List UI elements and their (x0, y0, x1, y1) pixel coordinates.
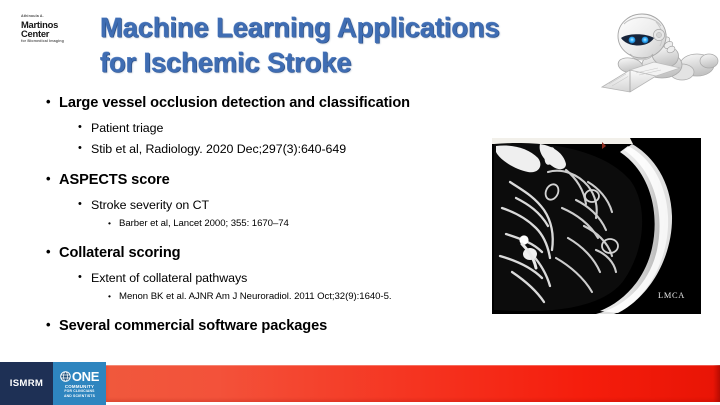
slide-footer: ISMRM ONE COMMUNITY FOR CLINICIANS AND S… (0, 362, 720, 405)
bullet-marker-icon: • (108, 218, 111, 229)
bullet-marker-icon: • (78, 270, 82, 285)
bullet-marker-icon: • (78, 120, 82, 135)
bullet-marker-icon: • (46, 317, 50, 334)
logo-line-biomedical-imaging: for Biomedical Imaging (21, 40, 67, 44)
bullet-level1-aspects-score: • ASPECTS score (46, 171, 506, 190)
bullet-text: Stroke severity on CT (91, 197, 209, 213)
logo-line-athinoula: Athinoula A. (21, 15, 67, 19)
bullet-marker-icon: • (46, 244, 50, 261)
bullet-marker-icon: • (78, 197, 82, 212)
bullet-level1-commercial-packages: • Several commercial software packages (46, 317, 506, 336)
bullet-marker-icon: • (46, 94, 50, 111)
bullet-text: Collateral scoring (59, 244, 180, 263)
presentation-slide: Athinoula A. Martinos Center for Biomedi… (0, 0, 720, 405)
bullet-marker-icon: • (46, 171, 50, 188)
bullet-level1-collateral-scoring: • Collateral scoring (46, 244, 506, 263)
logo-line-center: Center (21, 29, 67, 38)
globe-icon (60, 371, 71, 382)
bullet-marker-icon: • (108, 291, 111, 302)
slide-title-line-2: for Ischemic Stroke (100, 45, 620, 80)
bullet-text: Barber et al, Lancet 2000; 355: 1670–74 (119, 218, 289, 231)
bullet-level2-stib-reference: • Stib et al, Radiology. 2020 Dec;297(3)… (46, 141, 506, 157)
bullet-level3-barber-reference: • Barber et al, Lancet 2000; 355: 1670–7… (46, 218, 506, 231)
bullet-text: Extent of collateral pathways (91, 270, 247, 286)
bullet-marker-icon: • (78, 141, 82, 156)
one-logo-row: ONE (60, 370, 99, 383)
robot-reading-book-icon (596, 2, 720, 94)
bullet-text: Several commercial software packages (59, 317, 327, 336)
bullet-text: Stib et al, Radiology. 2020 Dec;297(3):6… (91, 141, 346, 157)
ismrm-label: ISMRM (10, 378, 43, 389)
ct-angiography-image: LMCA (492, 138, 701, 314)
bullet-text: Menon BK et al. AJNR Am J Neuroradiol. 2… (119, 291, 391, 304)
slide-title-line-1: Machine Learning Applications (100, 10, 620, 45)
ismrm-logo-block: ISMRM (0, 362, 53, 405)
one-sublabel-scientists: AND SCIENTISTS (64, 394, 95, 398)
footer-red-banner (106, 365, 720, 402)
bullet-level2-stroke-severity: • Stroke severity on CT (46, 197, 506, 213)
bullet-level3-menon-reference: • Menon BK et al. AJNR Am J Neuroradiol.… (46, 291, 506, 304)
bullet-level1-lvo: • Large vessel occlusion detection and c… (46, 94, 506, 113)
martinos-center-logo: Athinoula A. Martinos Center for Biomedi… (21, 15, 67, 44)
bullet-level2-collateral-pathways: • Extent of collateral pathways (46, 270, 506, 286)
one-label: ONE (72, 370, 99, 383)
bullet-text: Patient triage (91, 120, 163, 136)
bullet-text: Large vessel occlusion detection and cla… (59, 94, 410, 113)
cta-image-label: LMCA (658, 291, 685, 300)
slide-title: Machine Learning Applications for Ischem… (100, 10, 620, 81)
bullet-text: ASPECTS score (59, 171, 170, 190)
slide-body-bullets: • Large vessel occlusion detection and c… (46, 94, 506, 336)
bullet-level2-patient-triage: • Patient triage (46, 120, 506, 136)
one-community-logo-block: ONE COMMUNITY FOR CLINICIANS AND SCIENTI… (53, 362, 106, 405)
